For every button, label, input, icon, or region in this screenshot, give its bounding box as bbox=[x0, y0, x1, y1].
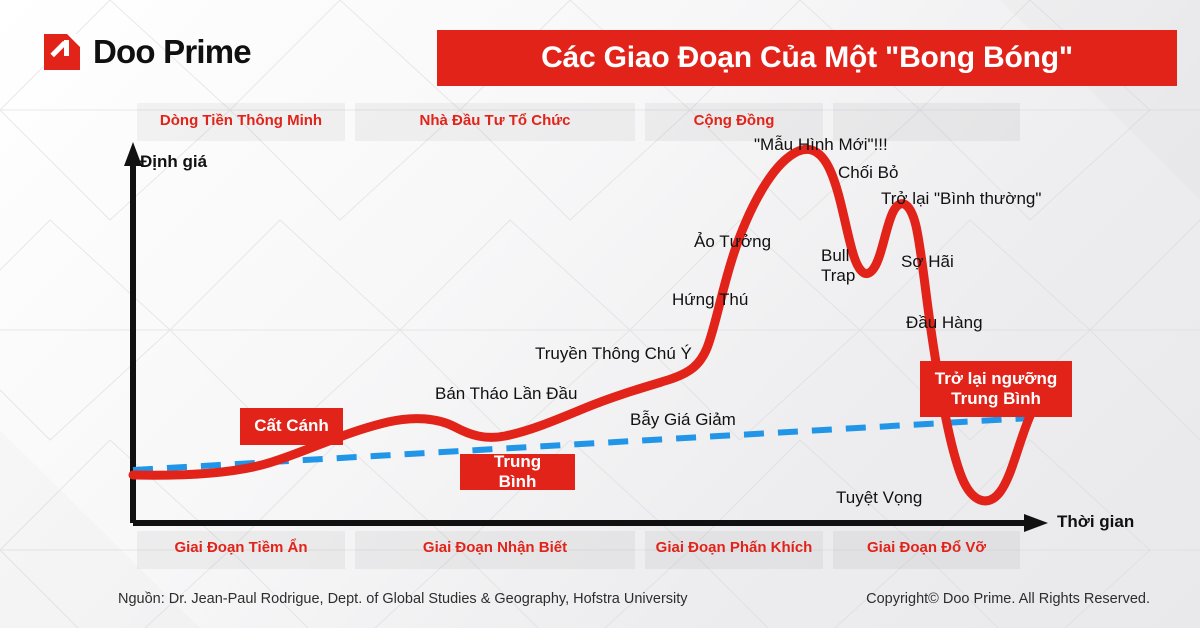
annotation-ban-thao-lan-dau: Bán Tháo Lần Đầu bbox=[435, 384, 577, 404]
footer-source-text: Nguồn: Dr. Jean-Paul Rodrigue, Dept. of … bbox=[118, 591, 688, 607]
annotation-mau-hinh-moi: "Mẫu Hình Mới"!!! bbox=[754, 135, 888, 155]
annotation-bull-trap: Bull Trap bbox=[821, 246, 855, 286]
annotation-dau-hang: Đầu Hàng bbox=[906, 313, 983, 333]
annotation-ao-tuong: Ảo Tưởng bbox=[694, 232, 771, 252]
x-axis bbox=[133, 514, 1048, 532]
plot-area bbox=[0, 0, 1200, 628]
footer-copyright-text: Copyright© Doo Prime. All Rights Reserve… bbox=[866, 591, 1150, 607]
callout-tro-lai-nguong-trung-binh: Trở lại ngưỡng Trung Bình bbox=[920, 361, 1072, 417]
callout-trung-binh: Trung Bình bbox=[460, 454, 575, 490]
callout-cat-canh: Cất Cánh bbox=[240, 408, 343, 445]
x-axis-label: Thời gian bbox=[1057, 512, 1134, 532]
annotation-bay-gia-giam: Bẫy Giá Giảm bbox=[630, 410, 736, 430]
annotation-tro-lai-binh-thuong: Trở lại "Bình thường" bbox=[881, 189, 1041, 209]
annotation-truyen-thong-chu-y: Truyền Thông Chú Ý bbox=[535, 344, 692, 364]
annotation-choi-bo: Chối Bỏ bbox=[838, 163, 898, 183]
annotation-tuyet-vong: Tuyệt Vọng bbox=[836, 488, 922, 508]
annotation-hung-thu: Hứng Thú bbox=[672, 290, 748, 310]
infographic-canvas: Doo Prime Các Giao Đoạn Của Một "Bong Bó… bbox=[0, 0, 1200, 628]
bubble-stages-chart: Dòng Tiền Thông Minh Nhà Đầu Tư Tổ Chức … bbox=[0, 0, 1200, 628]
annotation-so-hai: Sợ Hãi bbox=[901, 252, 954, 272]
y-axis bbox=[124, 142, 142, 523]
y-axis-label: Định giá bbox=[140, 152, 207, 172]
